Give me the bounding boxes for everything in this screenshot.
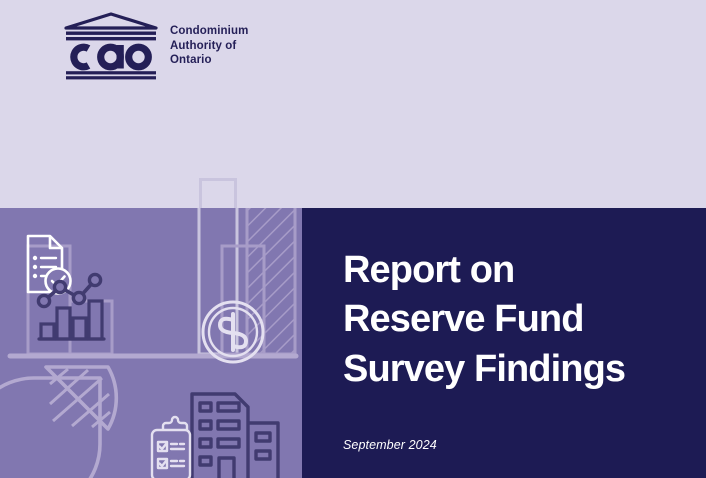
organization-name: Condominium Authority of Ontario [170,24,248,68]
building-and-clipboard-group [0,208,302,478]
page-title: Report on Reserve Fund Survey Findings [343,246,693,394]
title-block: Report on Reserve Fund Survey Findings [343,246,693,394]
cao-pediment-logo-icon [62,12,160,80]
clipboard-icon [152,417,190,478]
organization-logo: Condominium Authority of Ontario [62,12,248,80]
bar-chart-overhang [199,178,237,210]
building-icon [192,394,278,478]
illustration-band [0,208,302,478]
publication-date: September 2024 [343,438,437,452]
cover-page: Condominium Authority of Ontario [0,0,706,478]
